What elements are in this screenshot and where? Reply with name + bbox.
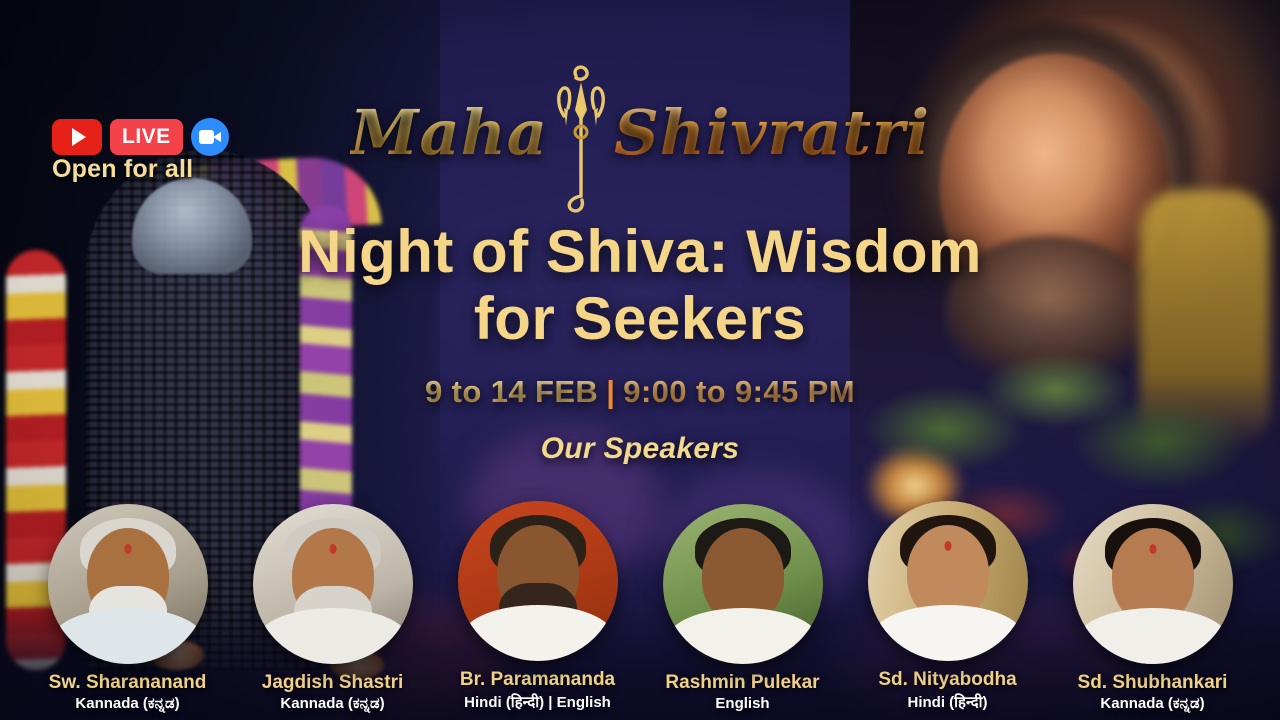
speaker-language: Hindi (हिन्दी) | English [464, 692, 611, 712]
speaker-name: Jagdish Shastri [262, 672, 404, 694]
speaker-name: Sd. Nityabodha [878, 669, 1016, 691]
avatar-body [873, 605, 1023, 661]
speaker-language: Kannada (ಕನ್ನಡ) [280, 695, 384, 712]
speaker-card[interactable]: Rashmin Pulekar English [640, 504, 845, 712]
speaker-language: Kannada (ಕನ್ನಡ) [1100, 695, 1204, 712]
speakers-row: Sw. Sharananand Kannada (ಕನ್ನಡ) Jagdish … [0, 492, 1280, 712]
event-datetime: 9 to 14 FEB|9:00 to 9:45 PM [0, 374, 1280, 410]
speaker-language: English [715, 695, 769, 712]
speaker-card[interactable]: Sd. Nityabodha Hindi (हिन्दी) [845, 501, 1050, 712]
speaker-card[interactable]: Sd. Shubhankari Kannada (ಕನ್ನಡ) [1050, 504, 1255, 712]
avatar-body [668, 608, 818, 664]
headline-line-1: Night of Shiva: Wisdom [298, 218, 982, 285]
brand-word-shivratri: Shivratri [614, 102, 930, 164]
avatar-body [258, 608, 408, 664]
avatar [458, 501, 618, 661]
speaker-card[interactable]: Sw. Sharananand Kannada (ಕನ್ನಡ) [25, 504, 230, 712]
trishul-om-icon [546, 64, 616, 214]
speaker-language: Kannada (ಕನ್ನಡ) [75, 695, 179, 712]
brand-lockup: Maha Shivratri [0, 78, 1280, 188]
avatar-tilak [1149, 544, 1156, 554]
avatar [663, 504, 823, 664]
avatar-tilak [944, 541, 951, 551]
speaker-name: Sd. Shubhankari [1078, 672, 1228, 694]
avatar [868, 501, 1028, 661]
avatar [253, 504, 413, 664]
avatar-body [463, 605, 613, 661]
maha-shivratri-poster: LIVE Open for all Maha Shivratri [0, 0, 1280, 720]
avatar-tilak [329, 544, 336, 554]
avatar [48, 504, 208, 664]
brand-word-maha: Maha [350, 102, 548, 164]
avatar-tilak [124, 544, 131, 554]
speaker-name: Sw. Sharananand [49, 672, 207, 694]
speaker-name: Rashmin Pulekar [665, 672, 819, 694]
avatar-body [1078, 608, 1228, 664]
speaker-name: Br. Paramananda [460, 669, 615, 691]
avatar-body [53, 608, 203, 664]
speaker-card[interactable]: Br. Paramananda Hindi (हिन्दी) | English [435, 501, 640, 712]
speaker-card[interactable]: Jagdish Shastri Kannada (ಕನ್ನಡ) [230, 504, 435, 712]
speakers-heading: Our Speakers [0, 432, 1280, 466]
page-title: Night of Shiva: Wisdom for Seekers [0, 218, 1280, 352]
headline-line-2: for Seekers [0, 285, 1280, 352]
avatar [1073, 504, 1233, 664]
event-dates: 9 to 14 FEB [425, 374, 598, 409]
datetime-separator: | [606, 374, 615, 409]
event-time: 9:00 to 9:45 PM [623, 374, 855, 409]
speaker-language: Hindi (हिन्दी) [908, 692, 988, 712]
